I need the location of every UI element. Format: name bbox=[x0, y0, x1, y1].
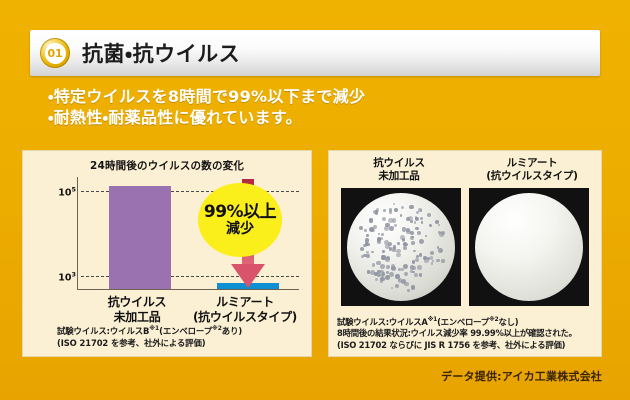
photo-footnote-line1: 試験ウイルス:ウイルスA※1(エンベロープ※2なし) bbox=[337, 314, 577, 328]
colony-spot bbox=[381, 233, 383, 235]
colony-spot bbox=[366, 234, 369, 237]
colony-spot bbox=[411, 285, 416, 290]
photo-caption-untreated-line2: 未加工品 bbox=[339, 170, 459, 183]
chart-footnote-sup2: ※2 bbox=[212, 325, 222, 332]
colony-spot bbox=[366, 254, 370, 258]
colony-spot bbox=[389, 208, 392, 211]
petri-dish-photo-untreated bbox=[341, 188, 461, 306]
chart-panel: 24時間後のウイルスの数の変化 ウイルスの数(PFU/cm2)※3 105 10… bbox=[22, 150, 312, 357]
xtick-label-lumiart: ルミアート (抗ウイルスタイプ) bbox=[181, 295, 309, 325]
reduction-callout-line1: 99%以上 bbox=[204, 204, 276, 222]
colony-spot bbox=[404, 282, 408, 286]
feature-bullet-1: ・特定ウイルスを8時間で99%以下まで減少 bbox=[48, 86, 608, 107]
colony-spot bbox=[398, 278, 402, 282]
colony-spot bbox=[366, 243, 369, 246]
petri-dish-photo-lumiart bbox=[469, 188, 589, 306]
colony-spot bbox=[385, 244, 390, 249]
ytick-label-10e5: 105 bbox=[58, 185, 76, 198]
colony-spot bbox=[416, 211, 419, 214]
colony-spot bbox=[411, 241, 416, 246]
photo-caption-untreated-line1: 抗ウイルス bbox=[339, 157, 459, 170]
colony-spot bbox=[415, 258, 419, 262]
colony-spot bbox=[397, 242, 400, 245]
colony-spot bbox=[403, 246, 407, 250]
header-banner: 01 抗菌・抗ウイルス bbox=[30, 30, 600, 76]
chart-footnote: 試験ウイルス:ウイルスB※1(エンベロープ※2あり) (ISO 21702 を参… bbox=[57, 323, 242, 349]
xtick-lumiart-line1: ルミアート bbox=[181, 295, 309, 310]
colony-spot bbox=[417, 231, 421, 235]
bar-untreated bbox=[109, 186, 171, 289]
colony-spot bbox=[427, 213, 431, 217]
photo-caption-lumiart-line2: (抗ウイルスタイプ) bbox=[469, 170, 595, 183]
section-number-badge: 01 bbox=[40, 38, 70, 68]
colony-spot bbox=[412, 260, 415, 263]
reduction-callout-line2: 減少 bbox=[226, 222, 254, 237]
ytick-10e5-exp: 5 bbox=[71, 185, 76, 193]
photo-footnote-l1b: (エンベロープ bbox=[437, 317, 489, 327]
colony-spot bbox=[419, 253, 423, 257]
colony-spot bbox=[389, 272, 394, 277]
colony-spot bbox=[436, 259, 440, 263]
chart-footnote-l1a: 試験ウイルス:ウイルスB bbox=[57, 326, 149, 336]
chart-x-axis-line bbox=[77, 289, 299, 290]
section-number-label: 01 bbox=[45, 43, 66, 64]
feature-bullet-2: ・耐熱性・耐薬品性に優れています。 bbox=[48, 107, 608, 128]
colony-spot bbox=[439, 232, 444, 237]
xtick-untreated-line1: 抗ウイルス bbox=[85, 295, 189, 310]
colony-spot bbox=[364, 229, 367, 232]
colony-spot bbox=[441, 259, 444, 262]
colony-spot bbox=[380, 277, 385, 282]
page-title: 抗菌・抗ウイルス bbox=[82, 30, 240, 76]
colony-spot bbox=[393, 203, 395, 205]
colony-spot bbox=[363, 244, 366, 247]
reduction-callout-bubble: 99%以上 減少 bbox=[198, 183, 282, 257]
colony-spot bbox=[430, 251, 434, 255]
colony-spot bbox=[420, 217, 423, 220]
photo-panel: 抗ウイルス 未加工品 ルミアート (抗ウイルスタイプ) 試験ウイルス:ウイルスA… bbox=[328, 150, 602, 357]
colony-spot bbox=[403, 264, 408, 269]
ytick-10e5-base: 10 bbox=[58, 188, 71, 199]
colony-spot bbox=[394, 224, 397, 227]
colony-spot bbox=[378, 233, 381, 236]
colony-spot bbox=[389, 226, 394, 231]
colony-spot bbox=[414, 273, 418, 277]
colony-spot bbox=[407, 289, 410, 292]
chart-footnote-l1c: あり) bbox=[222, 326, 242, 336]
colony-spot bbox=[377, 237, 381, 241]
colony-spot bbox=[371, 251, 374, 254]
colony-spot bbox=[410, 220, 413, 223]
colony-spot bbox=[414, 221, 417, 224]
colony-spot bbox=[410, 236, 414, 240]
colony-spot bbox=[391, 287, 394, 290]
colony-spot bbox=[376, 208, 379, 211]
chart-footnote-sup1: ※1 bbox=[149, 325, 159, 332]
colony-spot bbox=[393, 245, 397, 249]
colony-spot bbox=[382, 217, 387, 222]
colony-spot bbox=[395, 274, 400, 279]
photo-footnote-sup1: ※1 bbox=[428, 316, 438, 323]
photo-caption-lumiart: ルミアート (抗ウイルスタイプ) bbox=[469, 157, 595, 183]
colony-spot bbox=[382, 250, 385, 253]
colony-spot bbox=[392, 249, 395, 252]
photo-caption-untreated: 抗ウイルス 未加工品 bbox=[339, 157, 459, 183]
photo-footnote-l1a: 試験ウイルス:ウイルスA bbox=[337, 317, 428, 327]
photo-footnote: 試験ウイルス:ウイルスA※1(エンベロープ※2なし) 8時間後の結果状況:ウイル… bbox=[337, 314, 577, 351]
colony-spot bbox=[383, 209, 386, 212]
colony-spot bbox=[415, 227, 418, 230]
colony-spot bbox=[386, 265, 390, 269]
colony-spot bbox=[372, 263, 375, 266]
colony-spot bbox=[438, 224, 440, 226]
chart-title: 24時間後のウイルスの数の変化 bbox=[23, 158, 311, 173]
ytick-10e3-base: 10 bbox=[58, 273, 71, 284]
photo-footnote-line3: (ISO 21702 ならびに JIS R 1756 を参考、社外による評価) bbox=[337, 340, 577, 352]
photo-footnote-line2: 8時間後の結果状況:ウイルス減少率 99.99%以上が確認された。 bbox=[337, 328, 577, 340]
colony-spot bbox=[401, 206, 405, 210]
colony-spot bbox=[419, 239, 424, 244]
colony-spot bbox=[431, 262, 434, 265]
arrow-head-icon bbox=[231, 264, 265, 288]
ytick-label-10e3: 103 bbox=[58, 270, 76, 283]
ytick-10e3-exp: 3 bbox=[71, 270, 76, 278]
colony-spot bbox=[380, 264, 384, 268]
xtick-label-untreated: 抗ウイルス 未加工品 bbox=[85, 295, 189, 325]
petri-dish-untreated bbox=[347, 193, 455, 301]
colony-spot bbox=[365, 238, 369, 242]
colony-spot bbox=[359, 226, 363, 230]
colony-spot bbox=[429, 224, 432, 227]
colony-spot bbox=[396, 253, 401, 258]
colony-spot bbox=[373, 225, 377, 229]
colony-spot bbox=[425, 235, 428, 238]
colony-spot bbox=[419, 273, 423, 277]
petri-dish-lumiart bbox=[475, 193, 583, 301]
colony-spot bbox=[385, 257, 390, 262]
colony-spot bbox=[389, 211, 392, 214]
colony-spot bbox=[369, 218, 373, 222]
colony-spot bbox=[360, 247, 364, 251]
chart-y-axis-line bbox=[77, 177, 78, 289]
colony-spot bbox=[392, 218, 397, 223]
colony-spot bbox=[417, 265, 421, 269]
colony-spot bbox=[395, 284, 399, 288]
chart-footnote-l1b: (エンベロープ bbox=[159, 326, 212, 336]
colony-spot bbox=[432, 260, 435, 263]
colony-spot bbox=[409, 205, 414, 210]
chart-plot-area: 105 103 99%以上 減少 bbox=[81, 177, 299, 289]
colony-spot bbox=[438, 248, 443, 253]
colony-spot bbox=[375, 211, 378, 214]
colony-spot bbox=[400, 214, 403, 217]
photo-footnote-l1c: なし) bbox=[498, 317, 518, 327]
chart-footnote-line1: 試験ウイルス:ウイルスB※1(エンベロープ※2あり) bbox=[57, 323, 242, 337]
colony-spot bbox=[385, 223, 389, 227]
colony-spot bbox=[375, 278, 378, 281]
feature-bullet-list: ・特定ウイルスを8時間で99%以下まで減少 ・耐熱性・耐薬品性に優れています。 bbox=[48, 86, 608, 128]
colony-spot bbox=[404, 272, 408, 276]
colony-spot bbox=[421, 221, 424, 224]
colony-spot bbox=[406, 230, 410, 234]
colony-spot bbox=[402, 238, 405, 241]
colony-spot bbox=[388, 218, 393, 223]
infographic-root: 01 抗菌・抗ウイルス ・特定ウイルスを8時間で99%以下まで減少 ・耐熱性・耐… bbox=[0, 0, 630, 400]
colony-spots bbox=[347, 193, 455, 301]
colony-spot bbox=[394, 208, 398, 212]
photo-caption-lumiart-line1: ルミアート bbox=[469, 157, 595, 170]
colony-spot bbox=[391, 266, 396, 271]
chart-footnote-line2: (ISO 21702 を参考、社外による評価) bbox=[57, 338, 242, 350]
colony-spot bbox=[413, 250, 416, 253]
data-credit: データ提供:アイカ工業株式会社 bbox=[441, 368, 602, 384]
